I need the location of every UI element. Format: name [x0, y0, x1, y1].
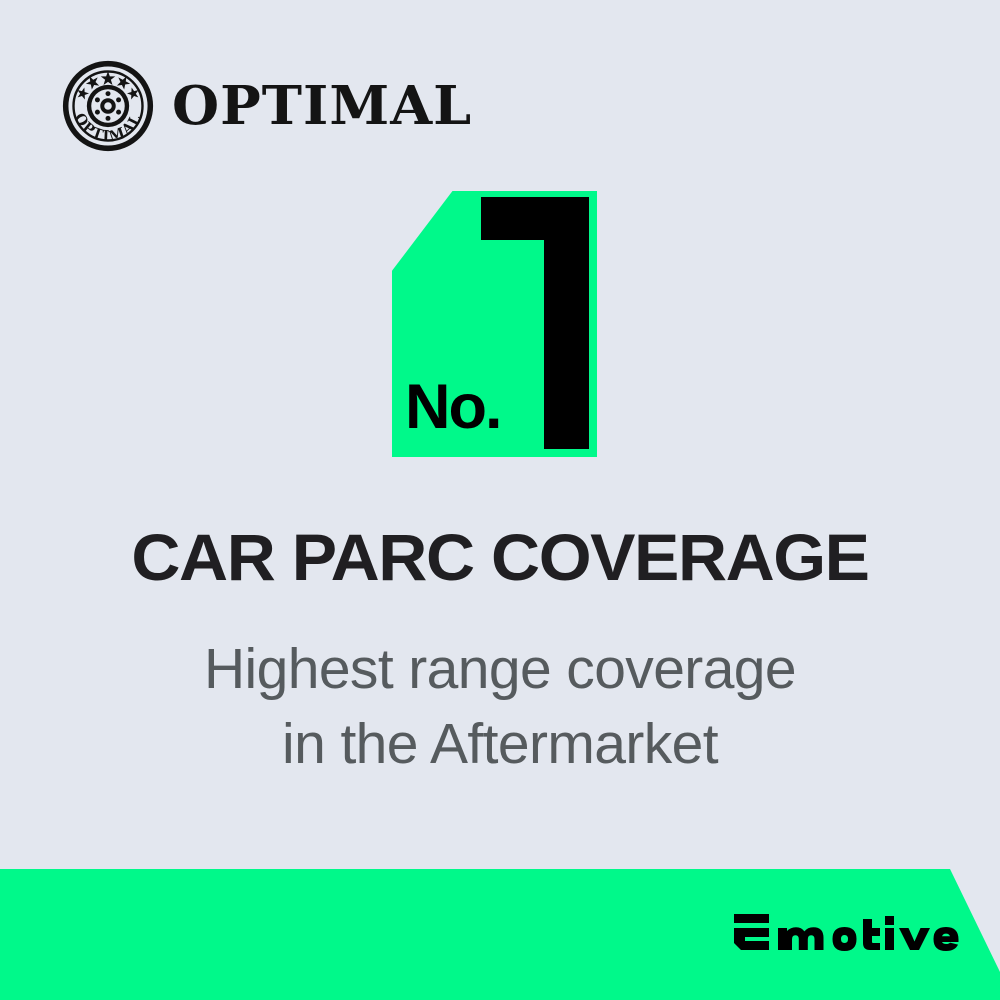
- emotive-wordmark-icon: [734, 914, 966, 960]
- page-subtitle-line-2: in the Aftermarket: [0, 707, 1000, 782]
- brand-header: OPTIMAL OPTIMAL: [62, 60, 466, 152]
- page-subtitle-line-1: Highest range coverage: [0, 632, 1000, 707]
- promo-poster: OPTIMAL OPTIMAL No. CAR PARC COVE: [0, 0, 1000, 1000]
- rank-badge: No.: [392, 191, 597, 457]
- page-title: CAR PARC COVERAGE: [0, 524, 1000, 590]
- brand-wordmark: OPTIMAL: [172, 80, 472, 133]
- optimal-wheel-badge-icon: OPTIMAL: [62, 60, 154, 152]
- page-subtitle: Highest range coverage in the Aftermarke…: [0, 632, 1000, 781]
- rank-badge-prefix: No.: [405, 376, 500, 439]
- footer-bar: [0, 869, 1000, 1000]
